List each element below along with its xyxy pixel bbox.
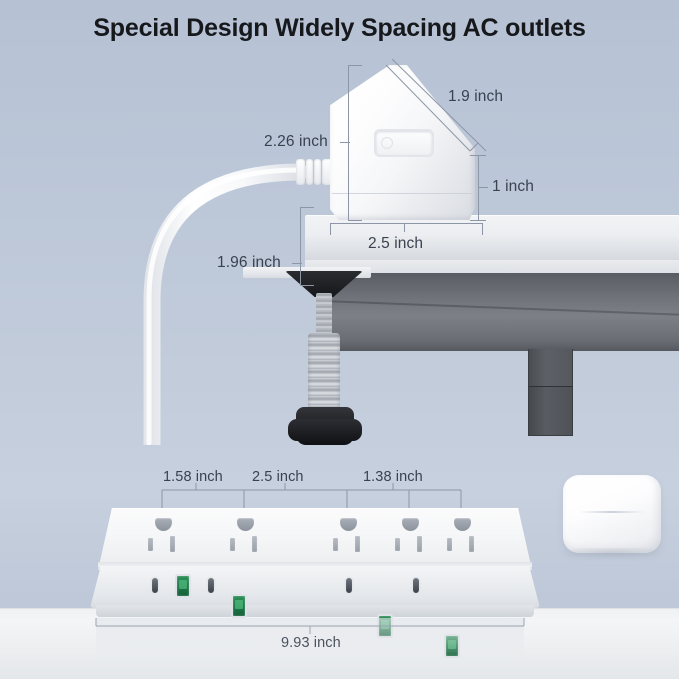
- dimension-tick-2-26-bottom: [348, 220, 362, 221]
- page-title: Special Design Widely Spacing AC outlets: [0, 14, 679, 43]
- dimension-label-2-26: 2.26 inch: [264, 133, 328, 151]
- dimension-tick-1-top: [470, 155, 486, 156]
- dimension-tick-1-96-top: [300, 207, 314, 208]
- overall-length-label: 9.93 inch: [281, 635, 341, 651]
- dimension-tick-2-26-mid: [340, 142, 350, 143]
- dimension-tick-1-96-bottom: [300, 285, 314, 286]
- desk-clamp-scene: 1.9 inch 2.26 inch 1 inch 2.5 inch 1.96 …: [0, 55, 679, 445]
- dimension-tick-2-5-right: [482, 223, 483, 235]
- dimension-tick-1-96-mid: [292, 263, 302, 264]
- dimension-line-1-9: [0, 55, 679, 445]
- dimension-tick-1-bottom: [470, 220, 486, 221]
- dimension-line-1-96: [300, 207, 301, 285]
- dimension-label-1-9: 1.9 inch: [448, 88, 503, 106]
- dimension-tick-2-26-top: [348, 65, 362, 66]
- dimension-label-1-96: 1.96 inch: [217, 254, 281, 272]
- power-strip-scene: 1.58 inch 2.5 inch 1.38 inch: [0, 440, 679, 679]
- dimension-tick-1-mid: [478, 187, 488, 188]
- dimension-tick-2-5-mid: [404, 223, 405, 232]
- dimension-label-1: 1 inch: [492, 178, 534, 196]
- dimension-tick-2-5-left: [330, 223, 331, 235]
- dimension-line-2-5: [330, 223, 482, 224]
- dimension-label-2-5: 2.5 inch: [368, 235, 423, 253]
- product-infographic: Special Design Widely Spacing AC outlets: [0, 0, 679, 679]
